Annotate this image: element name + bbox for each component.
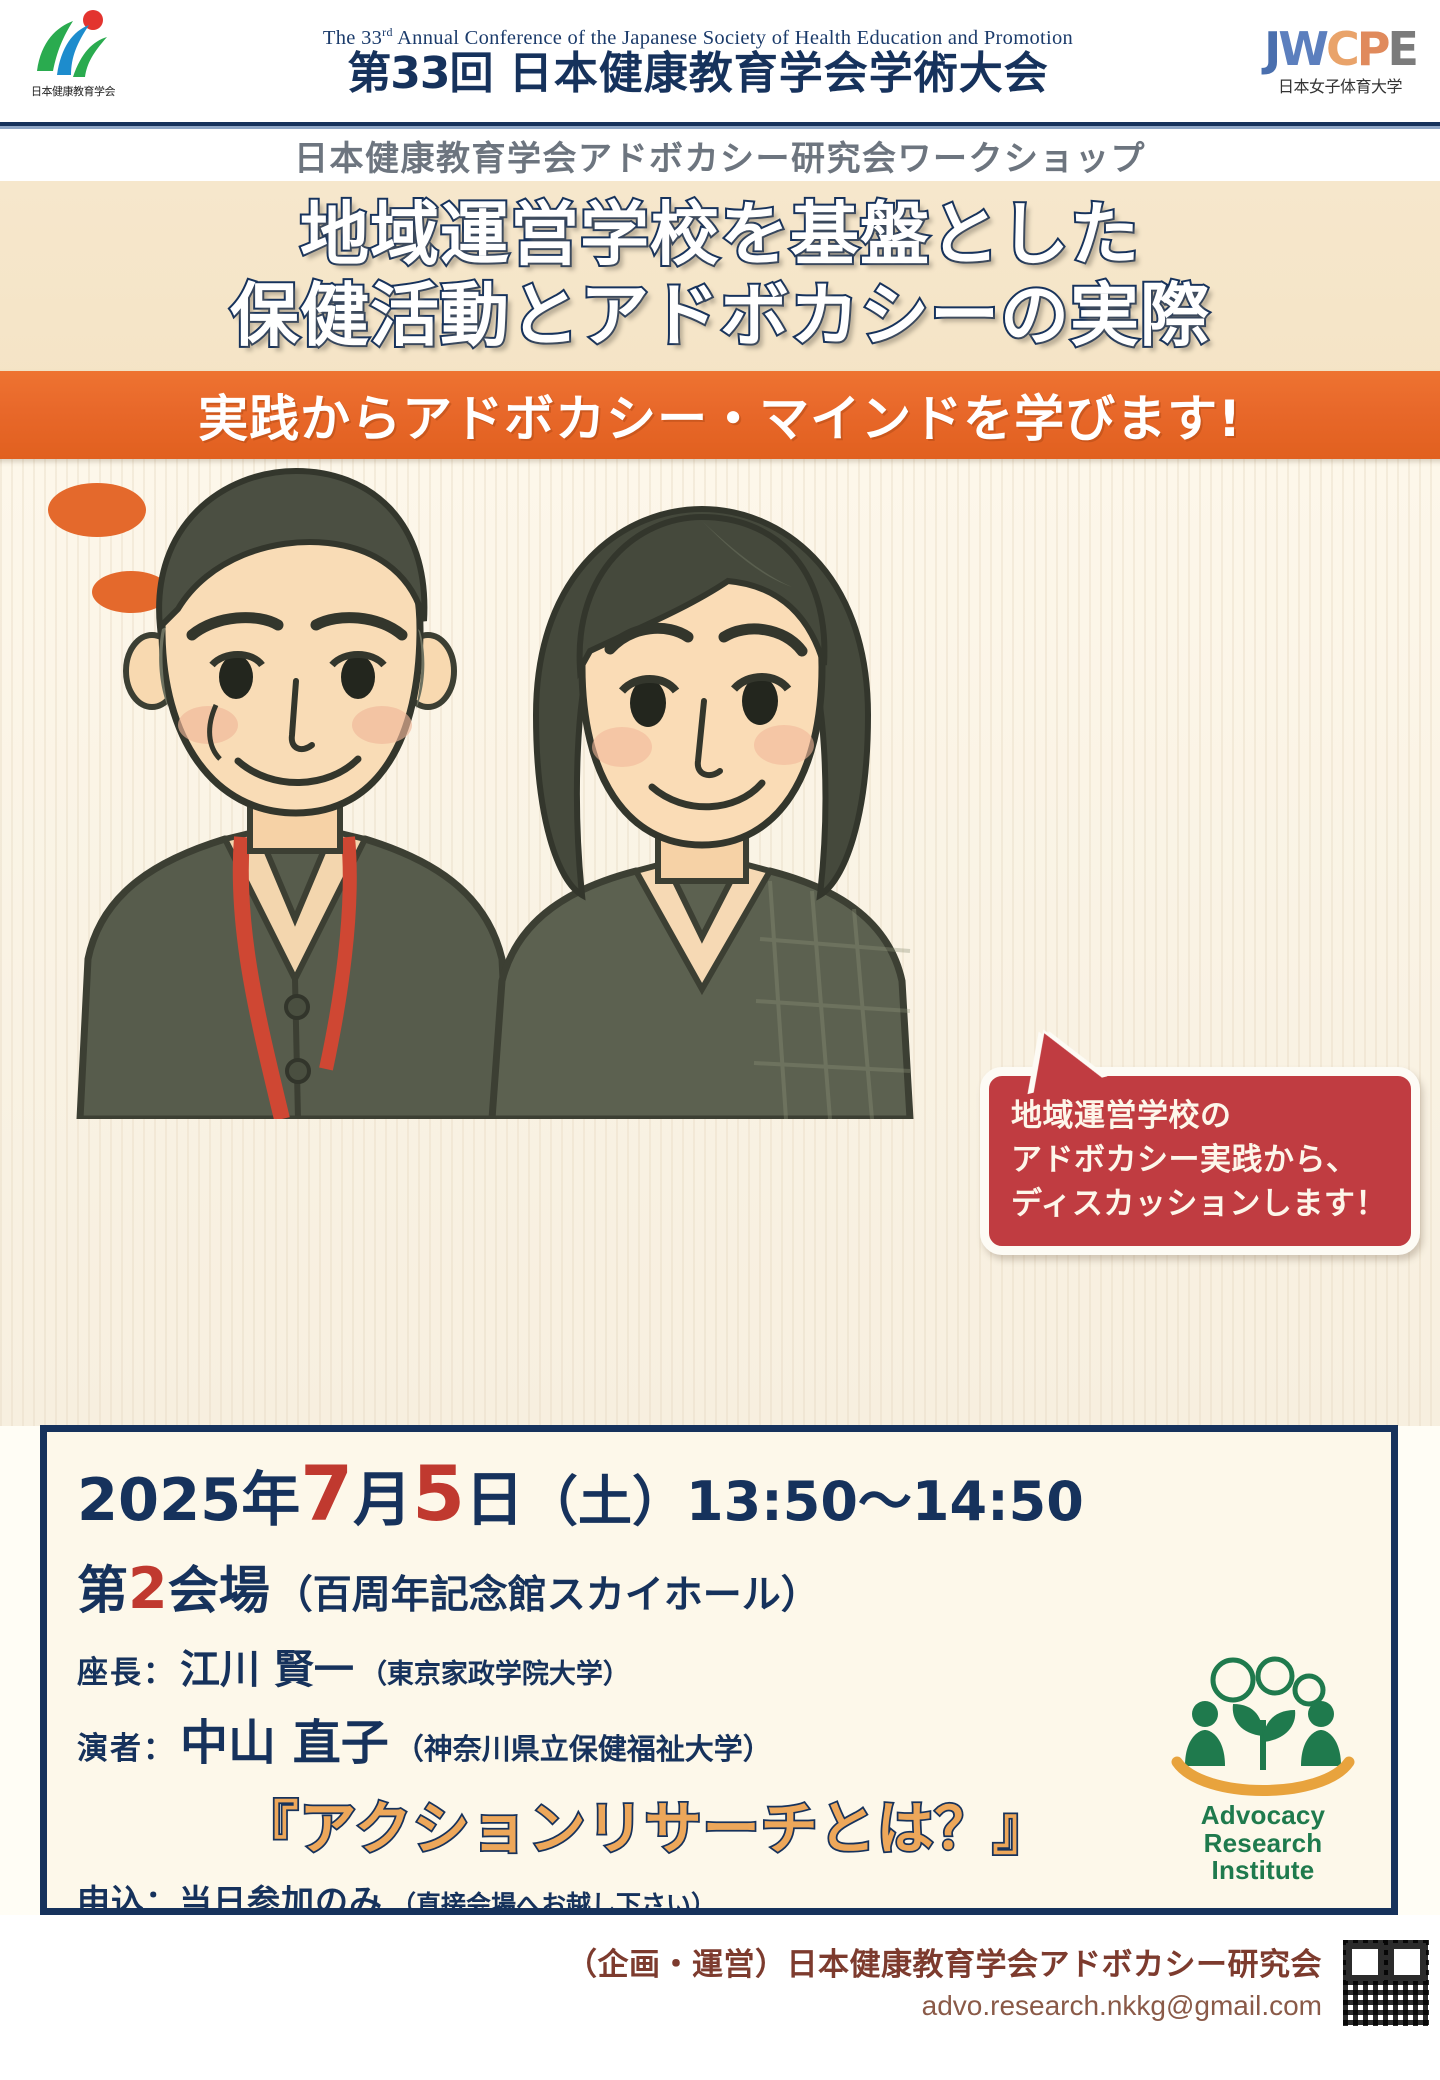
venue-prefix: 第 (77, 1549, 128, 1623)
conference-english-title: The 33rd Annual Conference of the Japane… (323, 25, 1073, 50)
speech-bubble-line-1: 地域運営学校の (1011, 1094, 1391, 1138)
conference-number: 第33回 (347, 48, 492, 99)
speaker-affiliation: （神奈川県立保健福祉大学） (395, 1726, 772, 1768)
event-month-num: 7 (300, 1460, 353, 1528)
qr-code-icon (1340, 1937, 1432, 2029)
venue-number: 2 (128, 1556, 168, 1622)
jwcpe-letter-e: E (1387, 26, 1415, 72)
event-venue-row: 第 2 会場 （百周年記念館スカイホール） (77, 1549, 1365, 1623)
advocacy-research-institute-logo: Advocacy Research Institute (1157, 1654, 1369, 1894)
venue-detail: （百周年記念館スカイホール） (274, 1564, 820, 1620)
event-day-num: 5 (412, 1460, 465, 1528)
workshop-subtitle-band: 日本健康教育学会アドボカシー研究会ワークショップ (0, 129, 1440, 181)
advocacy-logo-line-2: Research (1157, 1830, 1369, 1858)
woman-figure-icon (440, 489, 960, 1119)
main-title-line-2: 保健活動とアドボカシーの実際 (0, 276, 1440, 357)
chair-name: 江川 賢一 (180, 1637, 354, 1695)
jwcpe-letter-c: C (1326, 26, 1357, 72)
speaker-label: 演者： (77, 1723, 176, 1768)
event-year: 2025年 (77, 1452, 300, 1537)
main-title-line-1: 地域運営学校を基盤とした (0, 195, 1440, 276)
chair-affiliation: （東京家政学院大学） (360, 1652, 630, 1691)
poster-footer: （企画・運営）日本健康教育学会アドボカシー研究会 advo.research.n… (0, 1915, 1440, 2080)
event-day-kanji: 日 (465, 1452, 524, 1537)
event-month-kanji: 月 (353, 1452, 412, 1537)
speech-bubble-line-3: ディスカッションします！ (1011, 1182, 1391, 1226)
highlight-banner: 実践からアドボカシー・マインドを学びます! (0, 371, 1440, 459)
speech-bubble-tail (1019, 1022, 1103, 1096)
chair-label: 座長： (77, 1647, 176, 1692)
footer-text-block: （企画・運営）日本健康教育学会アドボカシー研究会 advo.research.n… (566, 1939, 1322, 2022)
event-weekday: （土） (524, 1457, 686, 1536)
advocacy-logo-line-3: Institute (1157, 1857, 1369, 1885)
speech-bubble-line-2: アドボカシー実践から、 (1011, 1138, 1391, 1182)
workshop-subtitle: 日本健康教育学会アドボカシー研究会ワークショップ (294, 131, 1146, 180)
poster-root: 日本健康教育学会 The 33rd Annual Conference of t… (0, 0, 1440, 2080)
university-logo: JWCPE 日本女子体育大学 (1254, 26, 1426, 97)
advocacy-logo-line-1: Advocacy (1157, 1802, 1369, 1830)
jwcpe-letter-j: J (1264, 26, 1278, 72)
footer-organizer: （企画・運営）日本健康教育学会アドボカシー研究会 (566, 1939, 1322, 1984)
jwcpe-letter-p: P (1357, 26, 1388, 72)
main-title: 地域運営学校を基盤とした 保健活動とアドボカシーの実際 (0, 181, 1440, 358)
society-logo: 日本健康教育学会 (14, 7, 132, 115)
university-logo-caption: 日本女子体育大学 (1278, 73, 1402, 97)
advocacy-logo-icon (1163, 1654, 1363, 1802)
poster-header: 日本健康教育学会 The 33rd Annual Conference of t… (0, 0, 1440, 122)
speech-bubble: 地域運営学校の アドボカシー実践から、 ディスカッションします！ (980, 1067, 1420, 1255)
footer-email: advo.research.nkkg@gmail.com (566, 1990, 1322, 2022)
header-center: The 33rd Annual Conference of the Japane… (132, 25, 1254, 97)
highlight-banner-text: 実践からアドボカシー・マインドを学びます! (198, 379, 1242, 451)
university-logo-mark: JWCPE (1264, 26, 1416, 72)
society-emblem-icon (27, 7, 119, 81)
conference-name: 日本健康教育学会学術大会 (509, 48, 1049, 99)
society-logo-caption: 日本健康教育学会 (31, 83, 115, 99)
illustration-woman (440, 489, 960, 1119)
event-details-box: 2025年 7 月 5 日 （土） 13:50〜14:50 第 2 会場 （百周… (40, 1425, 1398, 1915)
conference-english-suffix: Annual Conference of the Japanese Societ… (393, 27, 1073, 49)
speaker-name: 中山 直子 (180, 1703, 389, 1773)
illustration-area: 地域運営学校の アドボカシー実践から、 ディスカッションします！ (0, 459, 1440, 1426)
header-divider (0, 122, 1440, 129)
main-panel: 地域運営学校を基盤とした 保健活動とアドボカシーの実際 実践からアドボカシー・マ… (0, 181, 1440, 1426)
conference-english-ordinal: rd (382, 25, 393, 39)
conference-japanese-title: 第33回 日本健康教育学会学術大会 (347, 51, 1049, 97)
jwcpe-letter-w: W (1278, 26, 1326, 72)
venue-suffix: 会場 (168, 1549, 270, 1623)
conference-english-prefix: The 33 (323, 27, 382, 49)
event-date-row: 2025年 7 月 5 日 （土） 13:50〜14:50 (77, 1452, 1365, 1537)
event-time: 13:50〜14:50 (686, 1457, 1084, 1536)
